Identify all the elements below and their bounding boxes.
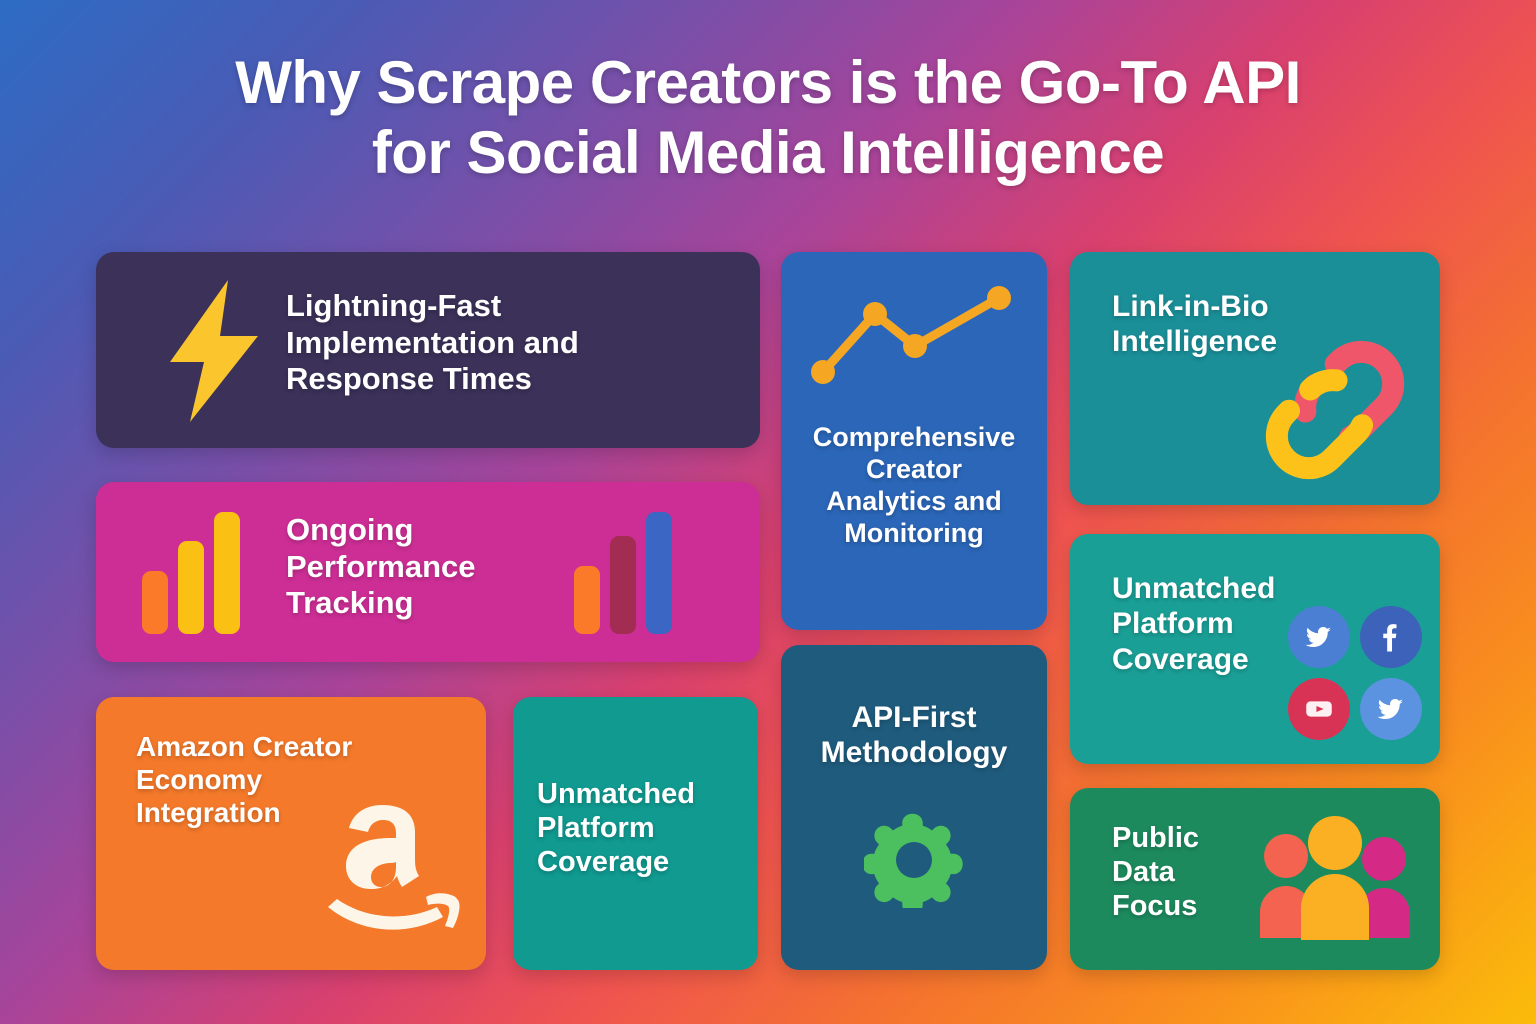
page-title-line-2: for Social Media Intelligence — [90, 118, 1446, 188]
chain-link-icon — [1252, 330, 1418, 490]
bar-chart-icon-left — [142, 512, 240, 634]
card-lightning-fast-title: Lightning-Fast Implementation and Respon… — [286, 288, 579, 398]
card-public-data-focus[interactable]: Public Data Focus — [1070, 788, 1440, 970]
facebook-icon[interactable] — [1360, 606, 1422, 668]
card-unmatched-platform-coverage-right[interactable]: Unmatched Platform Coverage — [1070, 534, 1440, 764]
card-unmatched-left-title: Unmatched Platform Coverage — [537, 777, 695, 880]
gear-icon — [864, 808, 964, 908]
card-analytics-title: Comprehensive Creator Analytics and Moni… — [781, 422, 1047, 549]
card-lightning-fast[interactable]: Lightning-Fast Implementation and Respon… — [96, 252, 760, 448]
card-comprehensive-analytics[interactable]: Comprehensive Creator Analytics and Moni… — [781, 252, 1047, 630]
card-ongoing-performance-title: Ongoing Performance Tracking — [286, 512, 476, 622]
social-icons-grid — [1288, 606, 1422, 740]
line-chart-icon — [803, 284, 1025, 394]
card-amazon-creator-economy[interactable]: Amazon Creator Economy Integration — [96, 697, 486, 970]
bar-chart-icon-right — [574, 512, 672, 634]
page-title-line-1: Why Scrape Creators is the Go-To API — [90, 48, 1446, 118]
card-api-first-title: API-First Methodology — [781, 700, 1047, 771]
lightning-bolt-icon — [154, 278, 274, 424]
amazon-logo-icon — [318, 795, 486, 945]
twitter-icon[interactable] — [1288, 606, 1350, 668]
infographic-canvas: Why Scrape Creators is the Go-To API for… — [0, 0, 1536, 1024]
card-unmatched-right-title: Unmatched Platform Coverage — [1112, 571, 1275, 677]
twitter-icon[interactable] — [1360, 678, 1422, 740]
card-ongoing-performance[interactable]: Ongoing Performance Tracking — [96, 482, 760, 662]
card-api-first-methodology[interactable]: API-First Methodology — [781, 645, 1047, 970]
card-link-in-bio[interactable]: Link-in-Bio Intelligence — [1070, 252, 1440, 505]
card-public-data-title: Public Data Focus — [1112, 821, 1199, 924]
page-title: Why Scrape Creators is the Go-To API for… — [0, 48, 1536, 187]
card-unmatched-platform-coverage-left[interactable]: Unmatched Platform Coverage — [513, 697, 758, 970]
people-group-icon — [1252, 816, 1418, 944]
youtube-icon[interactable] — [1288, 678, 1350, 740]
